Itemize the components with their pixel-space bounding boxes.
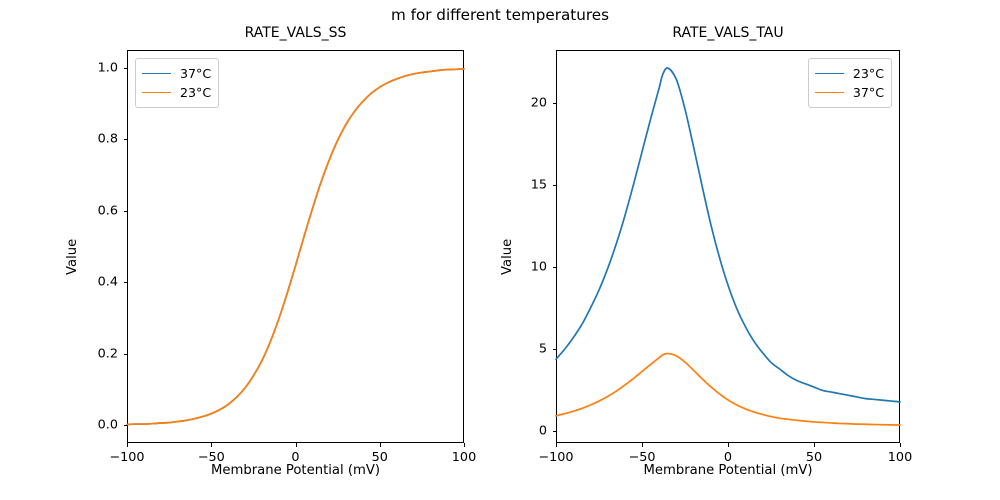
legend-label: 23°C [853,66,884,81]
legend-label: 37°C [853,85,884,100]
ytick-label: 0 [529,424,547,439]
xtick-mark [556,443,557,447]
legend-line-swatch [142,73,171,74]
legend-left[interactable]: 37°C23°C [135,58,219,108]
ytick-mark [553,185,557,186]
ytick-mark [124,211,128,212]
xtick-mark [900,443,901,447]
xtick-mark [380,443,381,447]
series-line-23°C [556,68,900,402]
xtick-mark [728,443,729,447]
ytick-mark [553,267,557,268]
ytick-label: 0.2 [92,346,118,361]
axes-title-left: RATE_VALS_SS [127,25,464,41]
plot-lines-left [127,50,464,443]
ytick-mark [124,282,128,283]
legend-entry: 37°C [142,64,211,83]
series-line-37°C [127,69,464,424]
ytick-mark [124,68,128,69]
ylabel-left: Value [65,239,80,275]
ytick-label: 0.0 [92,418,118,433]
legend-line-swatch [815,92,844,93]
ytick-label: 0.4 [92,275,118,290]
ytick-label: 5 [529,342,547,357]
ytick-label: 0.6 [92,203,118,218]
ytick-label: 10 [529,260,547,275]
ytick-label: 15 [529,177,547,192]
legend-entry: 23°C [142,83,211,102]
legend-label: 23°C [180,85,211,100]
xtick-mark [127,443,128,447]
series-line-37°C [556,354,900,426]
ylabel-right: Value [500,239,515,275]
legend-right[interactable]: 23°C37°C [808,58,892,108]
xtick-mark [296,443,297,447]
ytick-mark [124,425,128,426]
xtick-mark [211,443,212,447]
xtick-mark [814,443,815,447]
figure-suptitle: m for different temperatures [0,6,1000,24]
plot-lines-right [556,50,900,443]
series-line-23°C [127,69,464,424]
ytick-mark [553,431,557,432]
ytick-mark [553,349,557,350]
ytick-mark [124,354,128,355]
axes-rate-vals-ss: RATE_VALS_SS −100−500501000.00.20.40.60.… [127,50,464,443]
xlabel-left: Membrane Potential (mV) [127,463,464,478]
xtick-mark [642,443,643,447]
legend-label: 37°C [180,66,211,81]
ytick-label: 0.8 [92,132,118,147]
ytick-label: 1.0 [92,60,118,75]
xtick-mark [464,443,465,447]
axes-rate-vals-tau: RATE_VALS_TAU −100−5005010005101520 Memb… [556,50,900,443]
legend-entry: 37°C [815,83,884,102]
legend-entry: 23°C [815,64,884,83]
ytick-mark [553,103,557,104]
ytick-label: 20 [529,95,547,110]
legend-line-swatch [815,73,844,74]
legend-line-swatch [142,92,171,93]
ytick-mark [124,139,128,140]
axes-title-right: RATE_VALS_TAU [556,25,900,41]
figure-canvas: m for different temperatures RATE_VALS_S… [0,0,1000,500]
xlabel-right: Membrane Potential (mV) [556,463,900,478]
